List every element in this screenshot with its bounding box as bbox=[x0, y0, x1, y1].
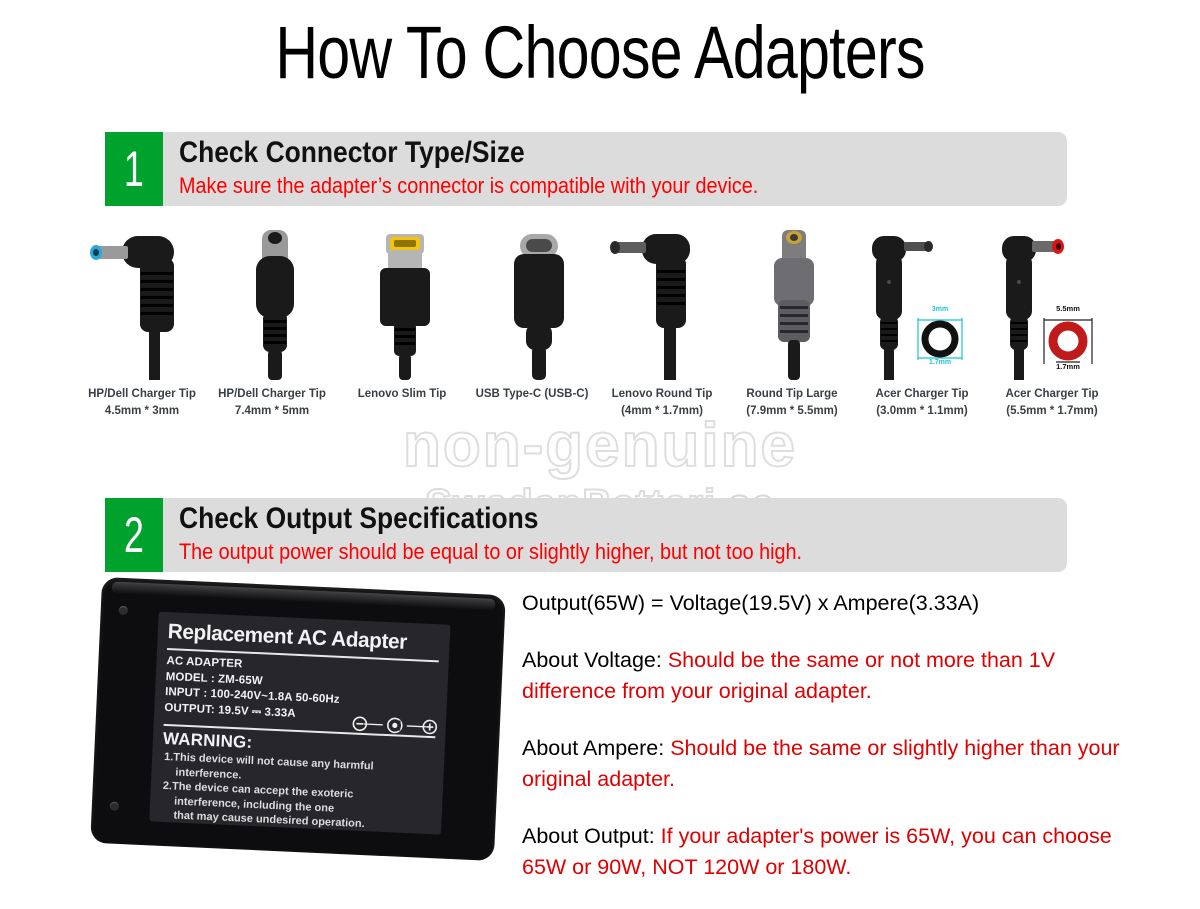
hp-74-barrel-plug-icon bbox=[208, 228, 336, 380]
acer-30-callout-bottom-label: 1.7mm bbox=[910, 359, 970, 366]
step-1-number: 1 bbox=[105, 132, 163, 206]
step-2-heading: Check Output Specifications bbox=[179, 501, 788, 537]
connector-item-hp-74: HP/Dell Charger Tip 7.4mm * 5mm bbox=[208, 228, 336, 443]
connector-item-hp-45: HP/Dell Charger Tip 4.5mm * 3mm bbox=[78, 228, 206, 443]
hp-blue-right-angle-plug-icon bbox=[78, 228, 206, 380]
connector-item-lenovo-round: Lenovo Round Tip (4mm * 1.7mm) bbox=[598, 228, 726, 443]
infographic-page: How To Choose Adapters 1 Check Connector… bbox=[0, 0, 1200, 900]
step-2-number: 2 bbox=[105, 498, 163, 572]
acer-30-callout-top-label: 3mm bbox=[910, 306, 970, 313]
connector-item-round-large: Round Tip Large (7.9mm * 5.5mm) bbox=[728, 228, 856, 443]
adapter-warning-heading: WARNING: bbox=[163, 728, 253, 753]
about-voltage: About Voltage: Should be the same or not… bbox=[522, 645, 1142, 707]
output-info-column: Output(65W) = Voltage(19.5V) x Ampere(3.… bbox=[522, 588, 1142, 909]
adapter-photo: Replacement AC Adapter AC ADAPTER MODEL … bbox=[92, 572, 512, 892]
step-1-heading: Check Connector Type/Size bbox=[179, 135, 745, 171]
about-output-label: About Output: bbox=[522, 824, 661, 848]
usb-c-plug-icon bbox=[468, 228, 596, 380]
page-title: How To Choose Adapters bbox=[120, 14, 1080, 92]
adapter-body: Replacement AC Adapter AC ADAPTER MODEL … bbox=[90, 577, 506, 861]
adapter-warning-body: 1.This device will not cause any harmful… bbox=[161, 750, 432, 835]
connector-item-lenovo-slim: Lenovo Slim Tip bbox=[338, 228, 466, 443]
about-voltage-label: About Voltage: bbox=[522, 648, 668, 672]
adapter-spec-lines: AC ADAPTER MODEL : ZM-65W INPUT : 100-24… bbox=[164, 654, 341, 724]
adapter-screw-bottom bbox=[110, 802, 119, 811]
lenovo-round-right-angle-plug-icon bbox=[598, 228, 726, 380]
adapter-label-plate: Replacement AC Adapter AC ADAPTER MODEL … bbox=[149, 612, 450, 835]
acer-55-callout-bottom-label: 1.7mm bbox=[1036, 362, 1100, 371]
about-output: About Output: If your adapter's power is… bbox=[522, 821, 1142, 883]
lenovo-slim-tip-plug-icon bbox=[338, 228, 466, 380]
adapter-screw-top bbox=[119, 606, 128, 615]
connector-caption: Acer Charger Tip (5.5mm * 1.7mm) bbox=[976, 386, 1128, 420]
connector-gallery: HP/Dell Charger Tip 4.5mm * 3mm HP/Dell … bbox=[0, 228, 1200, 443]
connector-item-acer-55: 5.5mm 1.7mm Acer Charger Tip (5.5mm * 1.… bbox=[988, 228, 1116, 443]
connector-item-usb-c: USB Type-C (USB-C) bbox=[468, 228, 596, 443]
connector-item-acer-30: 3mm 1.7mm Acer Charger Tip (3.0mm * 1.1m… bbox=[858, 228, 986, 443]
round-tip-large-plug-icon bbox=[728, 228, 856, 380]
acer-55-callout-top-label: 5.5mm bbox=[1036, 304, 1100, 313]
step-2-subheading: The output power should be equal to or s… bbox=[179, 537, 802, 567]
output-equation: Output(65W) = Voltage(19.5V) x Ampere(3.… bbox=[522, 588, 1142, 619]
acer-55-plug-icon: 5.5mm 1.7mm bbox=[988, 228, 1116, 380]
step-1-subheading: Make sure the adapter’s connector is com… bbox=[179, 171, 758, 201]
acer-30-plug-icon: 3mm 1.7mm bbox=[858, 228, 986, 380]
about-ampere: About Ampere: Should be the same or slig… bbox=[522, 733, 1142, 795]
about-ampere-label: About Ampere: bbox=[522, 736, 670, 760]
adapter-gloss bbox=[112, 581, 496, 610]
